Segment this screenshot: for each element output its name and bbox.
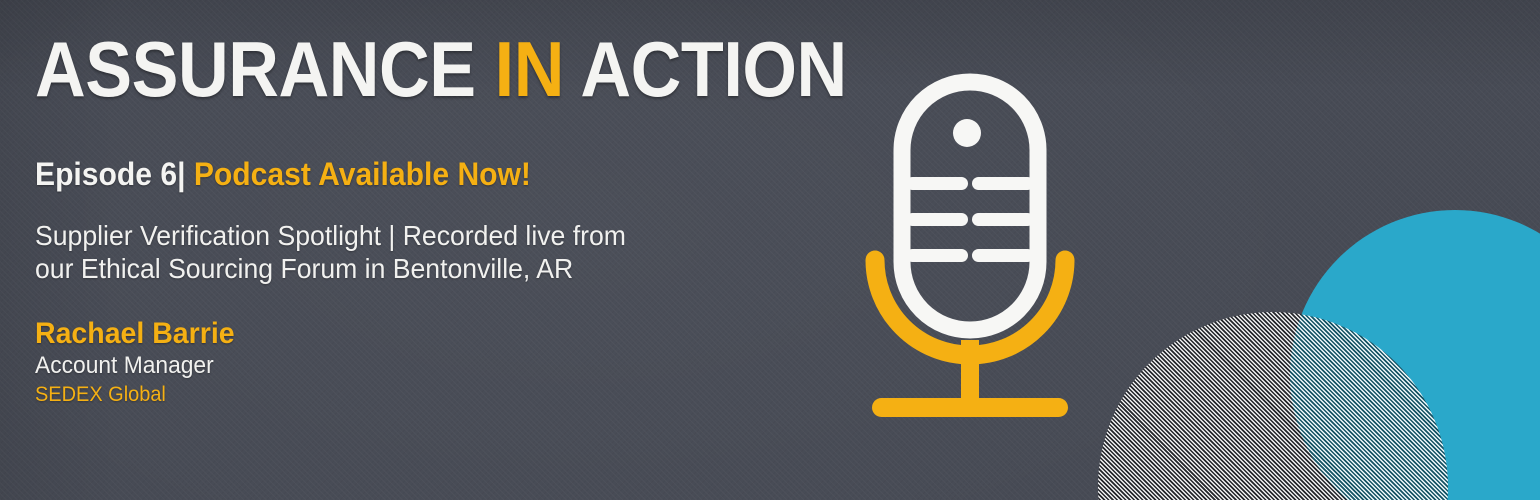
podcast-promo-banner: ASSURANCE IN ACTION Episode 6| Podcast A… <box>0 0 1540 500</box>
microphone-capsule-dot <box>953 119 981 147</box>
microphone-grille-bar <box>972 177 1034 190</box>
microphone-stand-base <box>872 398 1068 417</box>
description-line-2: our Ethical Sourcing Forum in Bentonvill… <box>35 252 681 285</box>
title-part-one: ASSURANCE <box>35 25 495 113</box>
page-title: ASSURANCE IN ACTION <box>35 30 847 108</box>
microphone-grille-bar <box>906 177 968 190</box>
episode-line: Episode 6| Podcast Available Now! <box>35 157 531 191</box>
microphone-grille-bar <box>972 213 1034 226</box>
microphone-grille-bar <box>906 213 968 226</box>
microphone-grille-bar <box>906 249 968 262</box>
banner-text-block: ASSURANCE IN ACTION Episode 6| Podcast A… <box>33 0 833 500</box>
microphone-grille-bar <box>972 249 1034 262</box>
decorative-shapes-group <box>1080 200 1540 500</box>
title-part-two: ACTION <box>564 25 847 113</box>
episode-description: Supplier Verification Spotlight | Record… <box>35 219 681 285</box>
episode-availability-tag: Podcast Available Now! <box>186 156 531 192</box>
microphone-capsule <box>902 82 1038 330</box>
speaker-name: Rachael Barrie <box>35 316 235 351</box>
speaker-role: Account Manager <box>35 351 235 381</box>
speaker-block: Rachael Barrie Account Manager SEDEX Glo… <box>35 316 235 408</box>
microphone-stand-stem <box>961 340 979 408</box>
decorative-teal-circle <box>1290 210 1540 500</box>
decorative-striped-circle <box>1098 312 1448 500</box>
speaker-organisation: SEDEX Global <box>35 381 235 408</box>
description-line-1: Supplier Verification Spotlight | Record… <box>35 219 681 252</box>
microphone-icon <box>845 60 1095 430</box>
episode-number: Episode 6| <box>35 156 186 192</box>
title-accent-word: IN <box>495 25 564 113</box>
